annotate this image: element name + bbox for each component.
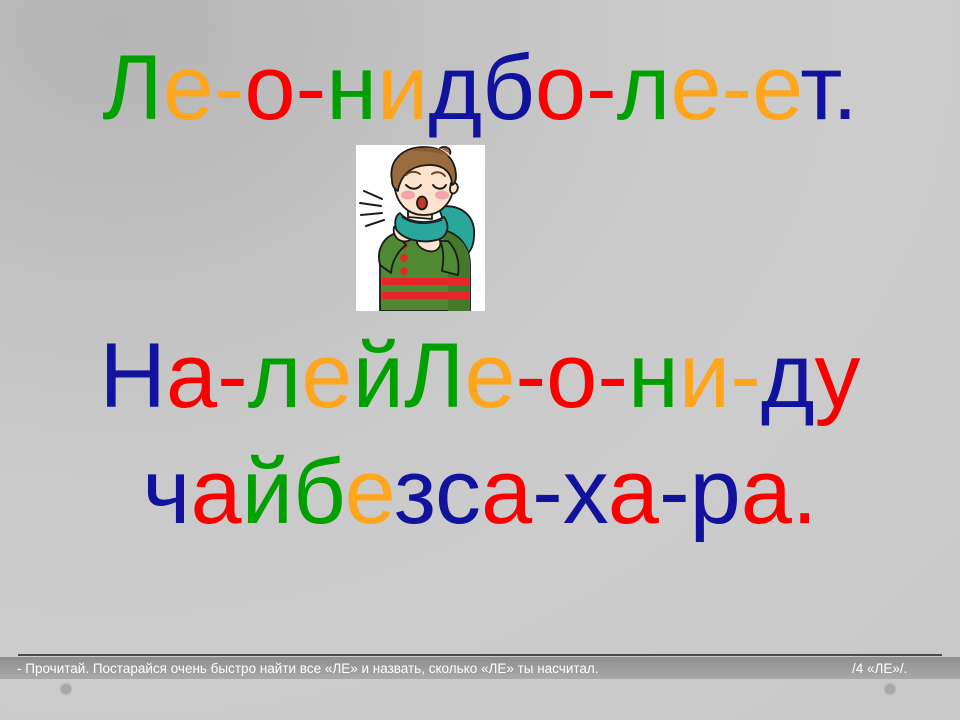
letter-line-3-15: а: [741, 441, 792, 543]
letter-line-2-10: о: [546, 325, 597, 427]
letter-line-2-13: и: [679, 325, 730, 427]
letter-line-1-6: и: [377, 37, 428, 139]
letter-line-1-3: о: [244, 37, 295, 139]
letter-line-3-6: з: [394, 441, 435, 543]
letter-line-1-11: -: [586, 37, 617, 139]
coughing-boy-image: [356, 145, 485, 311]
letter-line-3-2: й: [242, 441, 293, 543]
answer-count-note: /4 «ЛЕ»/.: [852, 660, 907, 677]
letter-line-1-9: б: [482, 37, 535, 139]
letter-line-1-14: -: [721, 37, 752, 139]
letter-line-1-10: о: [535, 37, 586, 139]
letter-line-2-7: Л: [404, 325, 464, 427]
letter-line-1-13: е: [670, 37, 721, 139]
letter-line-1-1: е: [163, 37, 214, 139]
letter-line-2-8: е: [464, 325, 515, 427]
letter-line-2-1: а: [166, 325, 217, 427]
letter-line-1-7: д: [428, 37, 482, 139]
letter-line-2-9: -: [516, 325, 547, 427]
letter-line-3-13: -: [659, 441, 690, 543]
letter-line-1-2: -: [214, 37, 245, 139]
letter-line-3-1: а: [190, 441, 241, 543]
letter-line-3-16: .: [792, 441, 818, 543]
word-line-3: чайбезса-ха-ра.: [0, 440, 960, 544]
letter-line-2-4: е: [301, 325, 352, 427]
letter-line-2-0: Н: [99, 325, 165, 427]
letter-line-3-9: а: [481, 441, 532, 543]
letter-line-2-15: д: [761, 325, 815, 427]
decoration-dot-left-icon: [61, 684, 71, 694]
letter-line-3-8: с: [435, 441, 481, 543]
letter-line-3-11: х: [563, 441, 608, 543]
letter-line-3-10: -: [532, 441, 563, 543]
word-line-2: На-лейЛе-о-ни-ду: [0, 324, 960, 428]
word-line-1: Ле-о-нидбо-ле-ет.: [0, 36, 960, 140]
letter-line-2-2: -: [217, 325, 248, 427]
letter-line-2-12: н: [628, 325, 679, 427]
letter-line-2-11: -: [597, 325, 628, 427]
letter-line-1-4: -: [296, 37, 327, 139]
letter-line-3-12: а: [608, 441, 659, 543]
letter-line-2-3: л: [248, 325, 302, 427]
letter-line-2-14: -: [730, 325, 761, 427]
letter-line-2-16: у: [815, 325, 861, 427]
letter-line-1-16: т: [800, 37, 832, 139]
decoration-dot-right-icon: [885, 684, 895, 694]
footer-divider: [18, 654, 942, 656]
letter-line-1-0: Л: [102, 37, 162, 139]
letter-line-3-4: б: [293, 441, 345, 543]
letter-line-3-0: ч: [143, 441, 191, 543]
letter-line-2-5: й: [353, 325, 404, 427]
instruction-note: - Прочитай. Постарайся очень быстро найт…: [17, 660, 599, 677]
letter-line-1-12: л: [617, 37, 671, 139]
slide-canvas: Ле-о-нидбо-ле-ет.: [0, 0, 960, 720]
letter-line-1-17: .: [832, 37, 858, 139]
letter-line-3-5: е: [345, 441, 394, 543]
letter-line-1-5: н: [326, 37, 377, 139]
letter-line-1-15: е: [752, 37, 800, 139]
letter-line-3-14: р: [690, 441, 741, 543]
